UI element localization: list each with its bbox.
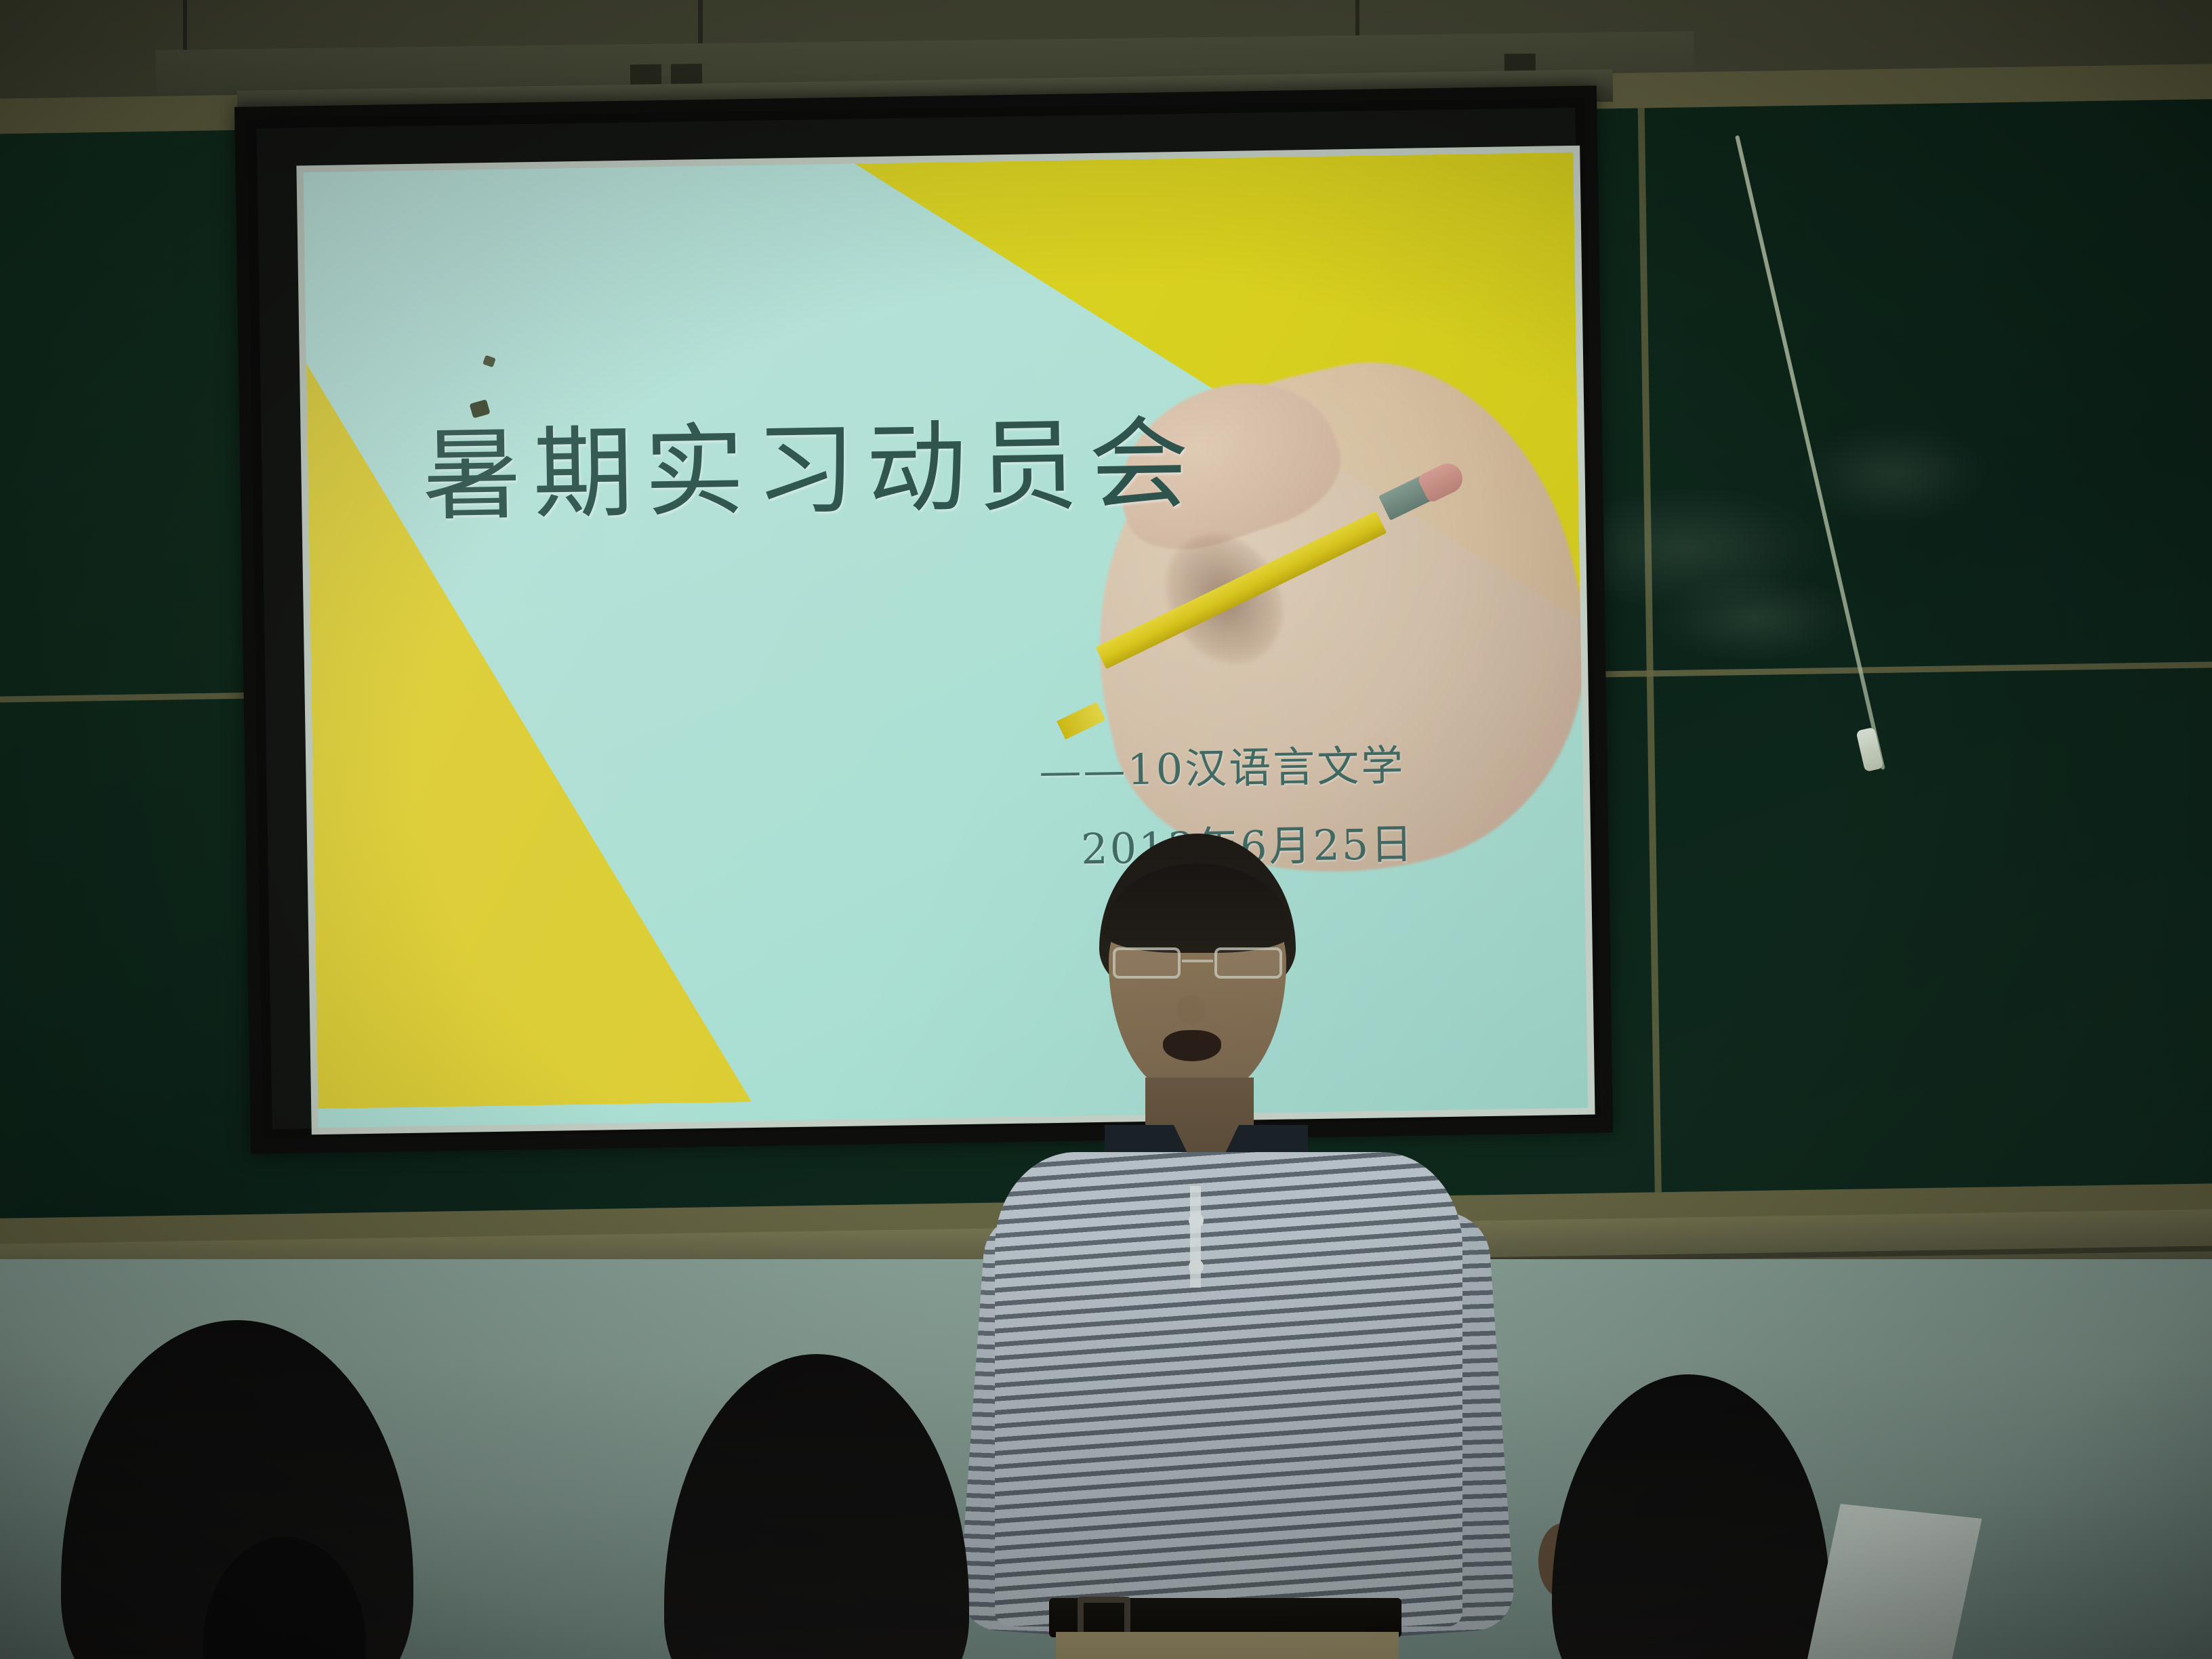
slide-subtitle-class: ——10汉语言文学: [1039, 731, 1414, 798]
presenter-nose: [1176, 995, 1206, 1025]
presenter-trousers: [1056, 1632, 1399, 1659]
classroom-scene: 暑期实习动员会 ——10汉语言文学 2013年6月25日: [0, 0, 2212, 1659]
presenter: [976, 834, 1491, 1659]
glasses-icon: [1111, 947, 1284, 981]
glasses-left-lens: [1113, 947, 1181, 979]
screen-dust-speck: [483, 355, 496, 367]
glasses-bridge: [1182, 960, 1213, 962]
presenter-mouth: [1163, 1030, 1221, 1061]
presenter-shirt: [995, 1152, 1462, 1626]
slide-title: 暑期实习动员会: [421, 382, 1201, 540]
shirt-button: [1189, 1213, 1204, 1228]
shirt-button: [1189, 1259, 1204, 1274]
glasses-right-lens: [1214, 947, 1282, 979]
pencil-tip: [1057, 701, 1105, 739]
